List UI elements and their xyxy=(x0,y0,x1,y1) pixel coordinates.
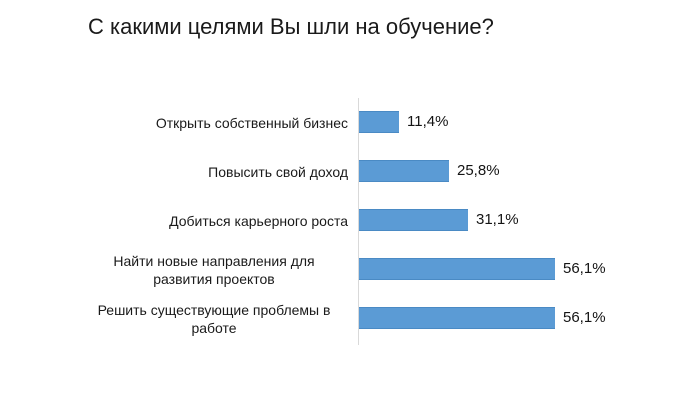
plot-area: Открыть собственный бизнес 11,4% Повысит… xyxy=(0,98,700,348)
bar-value-label: 56,1% xyxy=(563,260,606,278)
category-label-line: Найти новые направления для xyxy=(76,252,352,270)
category-label: Открыть собственный бизнес xyxy=(68,114,348,132)
bar-row: Решить существующие проблемы в работе 56… xyxy=(0,294,700,343)
category-label-line: Решить существующие проблемы в xyxy=(76,301,352,319)
bar-chart: С какими целями Вы шли на обучение? Откр… xyxy=(0,0,700,408)
bar-row: Добиться карьерного роста 31,1% xyxy=(0,196,700,245)
bar-track: 25,8% xyxy=(359,160,689,182)
chart-title: С какими целями Вы шли на обучение? xyxy=(70,12,550,42)
category-label: Повысить свой доход xyxy=(68,163,348,181)
bar-value-label: 31,1% xyxy=(476,211,519,229)
bar-row: Открыть собственный бизнес 11,4% xyxy=(0,98,700,147)
bar-row: Повысить свой доход 25,8% xyxy=(0,147,700,196)
category-label-line: Повысить свой доход xyxy=(208,164,348,180)
category-label-line: работе xyxy=(76,319,352,337)
bar-new-project-directions[interactable] xyxy=(359,258,555,280)
category-label: Решить существующие проблемы в работе xyxy=(76,301,352,337)
category-label-line: Добиться карьерного роста xyxy=(169,213,348,229)
bar-increase-income[interactable] xyxy=(359,160,449,182)
bar-value-label: 11,4% xyxy=(407,113,448,131)
bar-track: 11,4% xyxy=(359,111,689,133)
category-label: Найти новые направления для развития про… xyxy=(76,252,352,288)
bar-value-label: 56,1% xyxy=(563,309,606,327)
bar-track: 31,1% xyxy=(359,209,689,231)
bar-value-label: 25,8% xyxy=(457,162,500,180)
category-label-line: Открыть собственный бизнес xyxy=(156,115,348,131)
bar-track: 56,1% xyxy=(359,307,689,329)
bar-solve-work-problems[interactable] xyxy=(359,307,555,329)
bar-track: 56,1% xyxy=(359,258,689,280)
bar-row: Найти новые направления для развития про… xyxy=(0,245,700,294)
category-label: Добиться карьерного роста xyxy=(68,212,348,230)
category-label-line: развития проектов xyxy=(76,270,352,288)
bar-open-own-business[interactable] xyxy=(359,111,399,133)
bar-career-growth[interactable] xyxy=(359,209,468,231)
